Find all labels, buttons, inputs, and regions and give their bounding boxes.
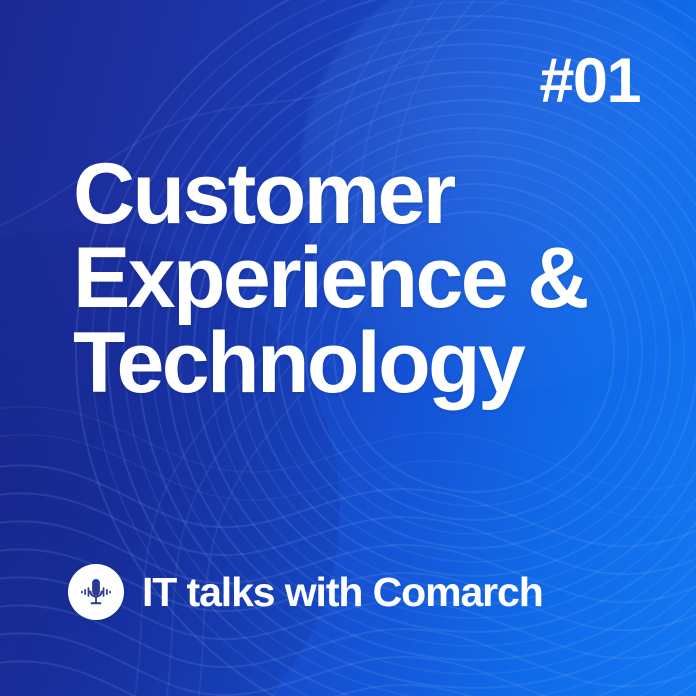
show-name: IT talks with Comarch: [142, 572, 543, 613]
title-line-3: Technology: [73, 321, 673, 405]
microphone-icon: [77, 573, 115, 611]
show-branding: IT talks with Comarch: [68, 564, 543, 620]
title-line-2: Experience &: [73, 236, 673, 320]
cover-title: Customer Experience & Technology: [73, 152, 673, 405]
episode-number: #01: [539, 50, 640, 113]
podcast-cover: #01 Customer Experience & Technology: [0, 0, 696, 696]
microphone-badge: [68, 564, 124, 620]
title-line-1: Customer: [73, 152, 673, 236]
